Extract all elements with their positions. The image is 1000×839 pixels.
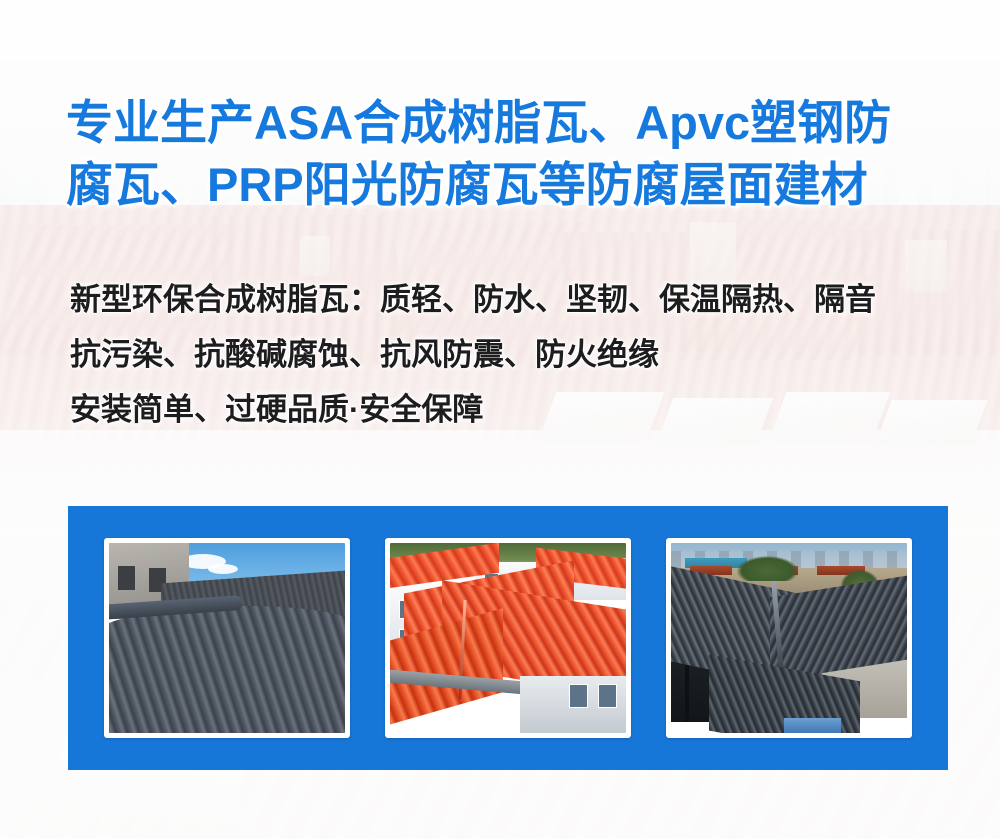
photo1-window xyxy=(118,566,135,591)
subheadline-line-2: 抗污染、抗酸碱腐蚀、抗风防震、防火绝缘 xyxy=(70,327,960,382)
subheadline-line-3: 安装简单、过硬品质·安全保障 xyxy=(70,382,960,437)
promo-banner: 专业生产ASA合成树脂瓦、Apvc塑钢防 腐瓦、PRP阳光防腐瓦等防腐屋面建材 … xyxy=(0,0,1000,839)
photo-frame-dark-tile-roof[interactable] xyxy=(666,538,912,738)
photo-dark-tile-roof xyxy=(671,543,907,733)
headline-line-1: 专业生产ASA合成树脂瓦、Apvc塑钢防 xyxy=(66,92,946,154)
subheadline: 新型环保合成树脂瓦：质轻、防水、坚韧、保温隔热、隔音 抗污染、抗酸碱腐蚀、抗风防… xyxy=(70,272,960,437)
photo3-blue-foreground xyxy=(784,718,841,733)
photo-frame-grey-tile-roof[interactable] xyxy=(104,538,350,738)
headline-line-2: 腐瓦、PRP阳光防腐瓦等防腐屋面建材 xyxy=(66,154,946,216)
photo2-window xyxy=(569,684,588,709)
photo-frame-red-tile-roof[interactable] xyxy=(385,538,631,738)
headline: 专业生产ASA合成树脂瓦、Apvc塑钢防 腐瓦、PRP阳光防腐瓦等防腐屋面建材 xyxy=(66,92,946,216)
photo-grey-tile-roof xyxy=(109,543,345,733)
photo3-trees xyxy=(737,556,798,581)
banner-content: 专业生产ASA合成树脂瓦、Apvc塑钢防 腐瓦、PRP阳光防腐瓦等防腐屋面建材 … xyxy=(0,0,1000,839)
photo1-main-tile-roof xyxy=(109,606,345,733)
photo1-cloud xyxy=(208,564,238,574)
photo-gallery-panel xyxy=(68,506,948,770)
photo-red-tile-roof xyxy=(390,543,626,733)
photo2-window xyxy=(598,684,617,709)
subheadline-line-1: 新型环保合成树脂瓦：质轻、防水、坚韧、保温隔热、隔音 xyxy=(70,272,960,327)
